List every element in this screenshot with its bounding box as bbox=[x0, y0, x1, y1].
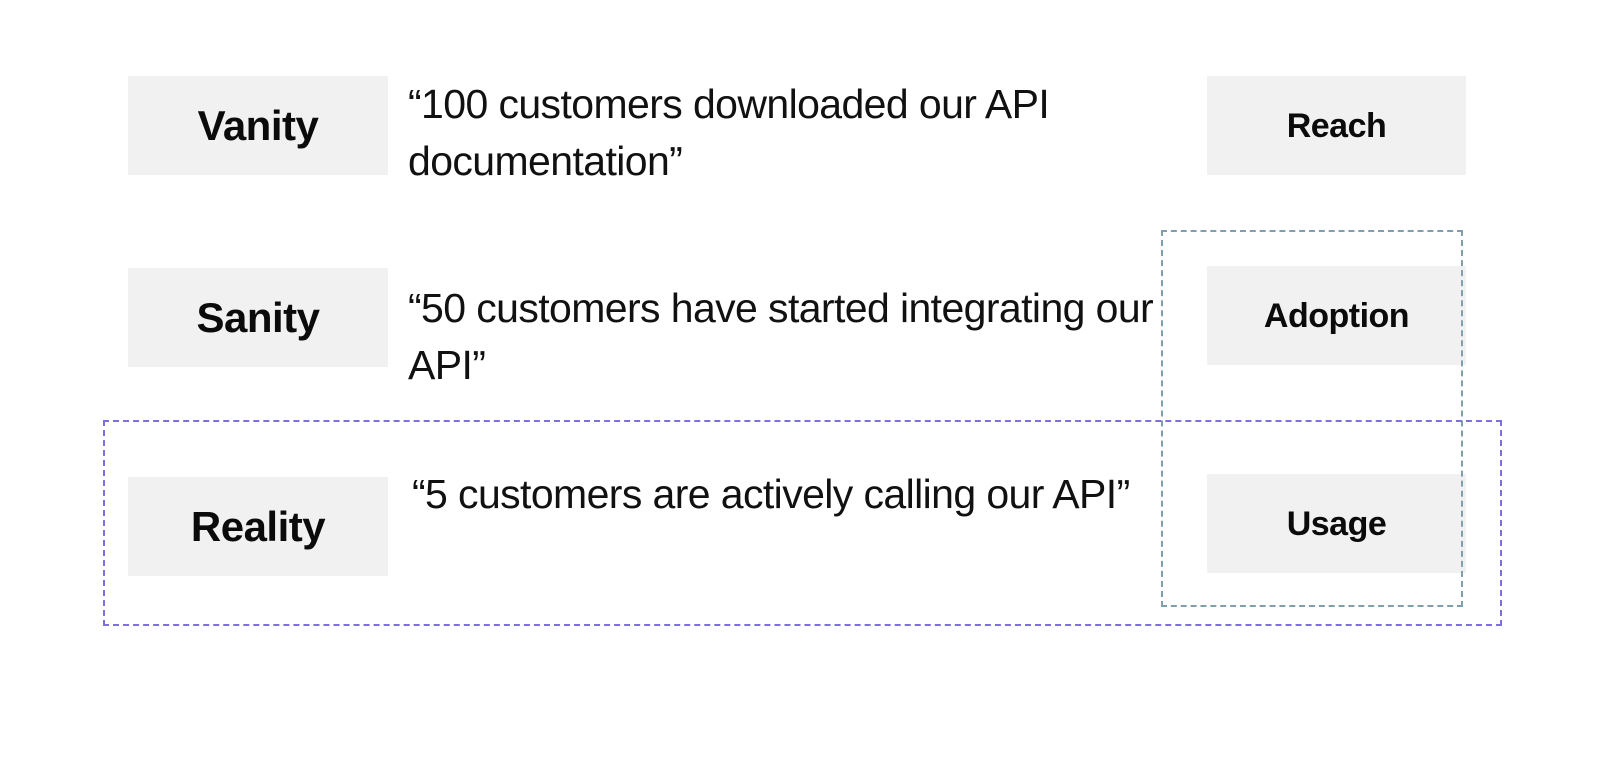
metrics-slide: Vanity “100 customers downloaded our API… bbox=[0, 0, 1600, 766]
category-label-reality: Reality bbox=[191, 506, 325, 548]
category-label-vanity: Vanity bbox=[198, 105, 319, 147]
category-label-sanity: Sanity bbox=[196, 297, 319, 339]
metric-label-usage: Usage bbox=[1287, 507, 1387, 541]
metric-chip-reach: Reach bbox=[1207, 76, 1466, 175]
quote-text-sanity: “50 customers have started integrating o… bbox=[408, 280, 1168, 393]
category-chip-sanity: Sanity bbox=[128, 268, 388, 367]
metric-chip-usage: Usage bbox=[1207, 474, 1466, 573]
quote-text-reality: “5 customers are actively calling our AP… bbox=[412, 466, 1202, 523]
metric-chip-adoption: Adoption bbox=[1207, 266, 1466, 365]
metric-label-adoption: Adoption bbox=[1264, 299, 1409, 333]
metric-label-reach: Reach bbox=[1287, 109, 1387, 143]
category-chip-vanity: Vanity bbox=[128, 76, 388, 175]
quote-text-vanity: “100 customers downloaded our API docume… bbox=[408, 76, 1168, 189]
category-chip-reality: Reality bbox=[128, 477, 388, 576]
